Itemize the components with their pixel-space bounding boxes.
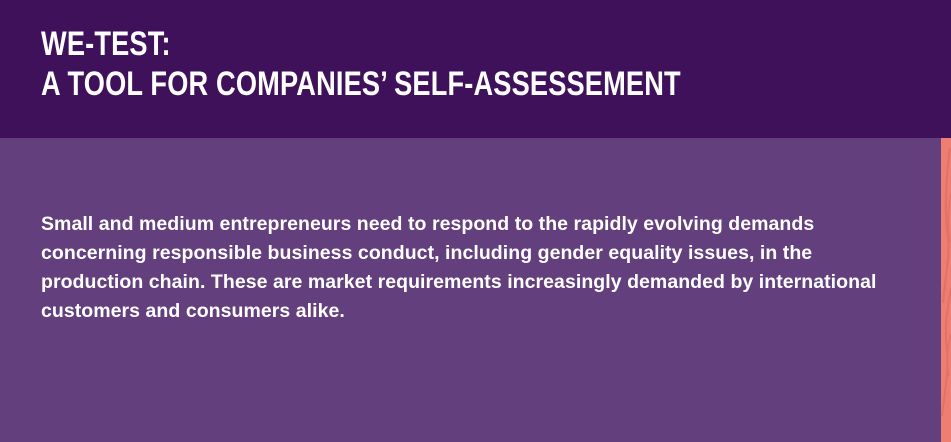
body-paragraph: Small and medium entrepreneurs need to r… [41, 210, 901, 326]
promo-banner: WE-TEST: A TOOL FOR COMPANIES’ SELF-ASSE… [0, 0, 951, 442]
header-band: WE-TEST: A TOOL FOR COMPANIES’ SELF-ASSE… [0, 0, 951, 138]
page-title-line-1: WE-TEST: [41, 24, 729, 64]
body-area: Small and medium entrepreneurs need to r… [0, 138, 951, 442]
leaf-pattern-strip [941, 138, 951, 442]
leaf-pattern-icon [941, 138, 951, 442]
page-title: WE-TEST: A TOOL FOR COMPANIES’ SELF-ASSE… [41, 24, 901, 104]
page-title-line-2: A TOOL FOR COMPANIES’ SELF-ASSESSEMENT [41, 64, 729, 104]
